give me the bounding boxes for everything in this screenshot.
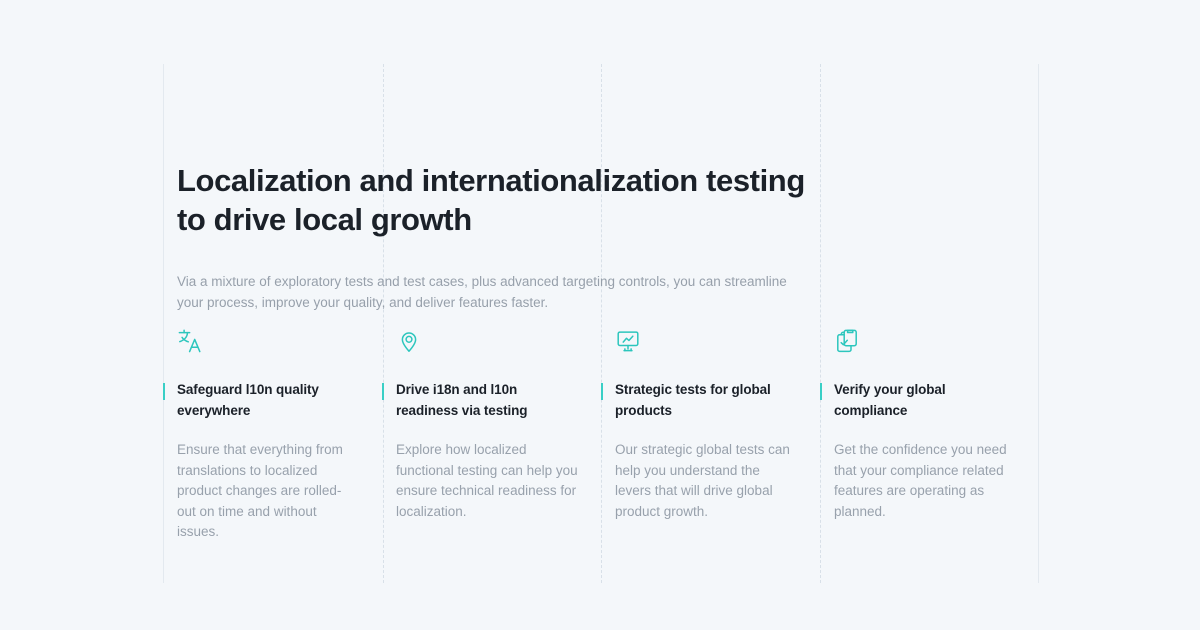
feature-card-title: Drive i18n and l10n readiness via testin… <box>396 380 579 421</box>
page-subtitle: Via a mixture of exploratory tests and t… <box>177 271 813 315</box>
feature-card-1: Safeguard l10n quality everywhere Ensure… <box>163 328 382 543</box>
feature-card-title: Verify your global compliance <box>834 380 1017 421</box>
feature-card-body: Explore how localized functional testing… <box>396 440 579 522</box>
accent-bar <box>163 383 165 400</box>
feature-card-body: Get the confidence you need that your co… <box>834 440 1017 522</box>
accent-bar <box>820 383 822 400</box>
feature-card-title: Safeguard l10n quality everywhere <box>177 380 360 421</box>
map-pin-icon <box>396 328 422 354</box>
feature-card-3: Strategic tests for global products Our … <box>601 328 820 543</box>
feature-card-list: Safeguard l10n quality everywhere Ensure… <box>163 328 1039 543</box>
accent-bar <box>601 383 603 400</box>
page-title: Localization and internationalization te… <box>177 161 837 239</box>
clipboard-check-icon <box>834 328 860 354</box>
feature-card-title: Strategic tests for global products <box>615 380 798 421</box>
feature-card-body: Our strategic global tests can help you … <box>615 440 798 522</box>
presentation-chart-icon <box>615 328 641 354</box>
page-canvas: Localization and internationalization te… <box>0 0 1200 630</box>
accent-bar <box>382 383 384 400</box>
translate-icon <box>177 328 203 354</box>
feature-card-4: Verify your global compliance Get the co… <box>820 328 1039 543</box>
feature-card-2: Drive i18n and l10n readiness via testin… <box>382 328 601 543</box>
feature-card-body: Ensure that everything from translations… <box>177 440 360 543</box>
